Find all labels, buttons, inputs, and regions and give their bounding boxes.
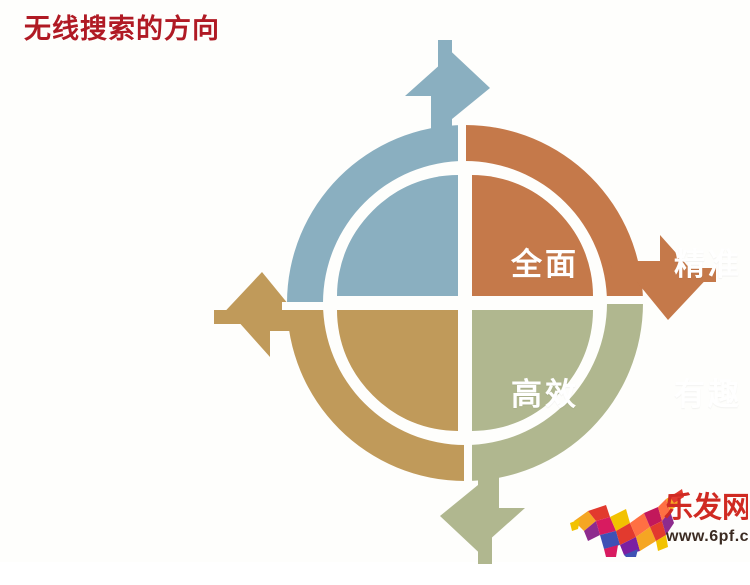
bull-logo-icon: 乐发网 www.6pf.cn [566,487,748,559]
watermark-logo: 乐发网 www.6pf.cn [566,487,748,559]
quadrant-label-top-right: 精准 [674,239,742,284]
separator-gaps [282,120,648,486]
quadrant-label-bottom-left: 高效 [511,369,579,414]
quadrant-label-top-left: 全面 [511,239,579,284]
slide-canvas: 无线搜索的方向 [0,0,750,562]
logo-brand-text: 乐发网 [664,490,748,524]
logo-url-text: www.6pf.cn [665,528,748,545]
quadrant-label-bottom-right: 有趣 [674,369,742,414]
